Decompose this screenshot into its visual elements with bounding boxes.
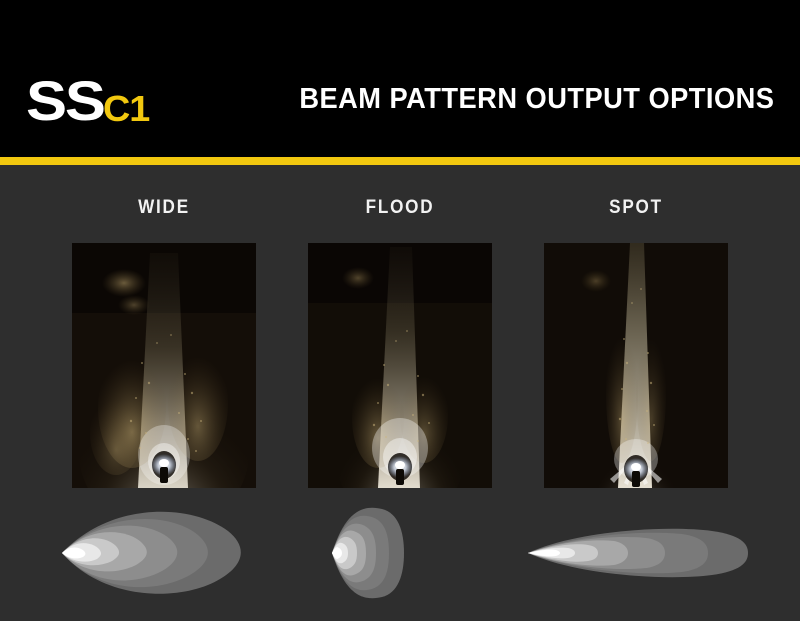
night-road-beam-photo-wide bbox=[72, 243, 256, 488]
logo-secondary-text: C1 bbox=[103, 91, 149, 127]
ssc1-logo: SSC1 bbox=[26, 73, 147, 129]
beam-option-wide: WIDE bbox=[44, 165, 284, 621]
yellow-accent-divider bbox=[0, 157, 800, 165]
page-title: BEAM PATTERN OUTPUT OPTIONS bbox=[299, 83, 774, 116]
night-road-beam-photo-flood bbox=[308, 243, 492, 488]
header-bar: SSC1 BEAM PATTERN OUTPUT OPTIONS bbox=[0, 0, 800, 157]
beam-option-flood: FLOOD bbox=[280, 165, 520, 621]
beam-pattern-infographic: SSC1 BEAM PATTERN OUTPUT OPTIONS WIDE bbox=[0, 0, 800, 621]
beam-option-spot: SPOT bbox=[516, 165, 756, 621]
beam-option-label-wide: WIDE bbox=[56, 197, 272, 219]
beam-option-label-spot: SPOT bbox=[528, 197, 744, 219]
beam-diagram-flood bbox=[280, 503, 520, 603]
beam-options-grid: WIDE bbox=[0, 165, 800, 621]
night-road-beam-photo-spot bbox=[544, 243, 728, 488]
beam-diagram-spot bbox=[516, 503, 756, 603]
beam-diagram-wide bbox=[44, 503, 284, 603]
logo-primary-text: SS bbox=[26, 73, 104, 129]
beam-option-label-flood: FLOOD bbox=[292, 197, 508, 219]
